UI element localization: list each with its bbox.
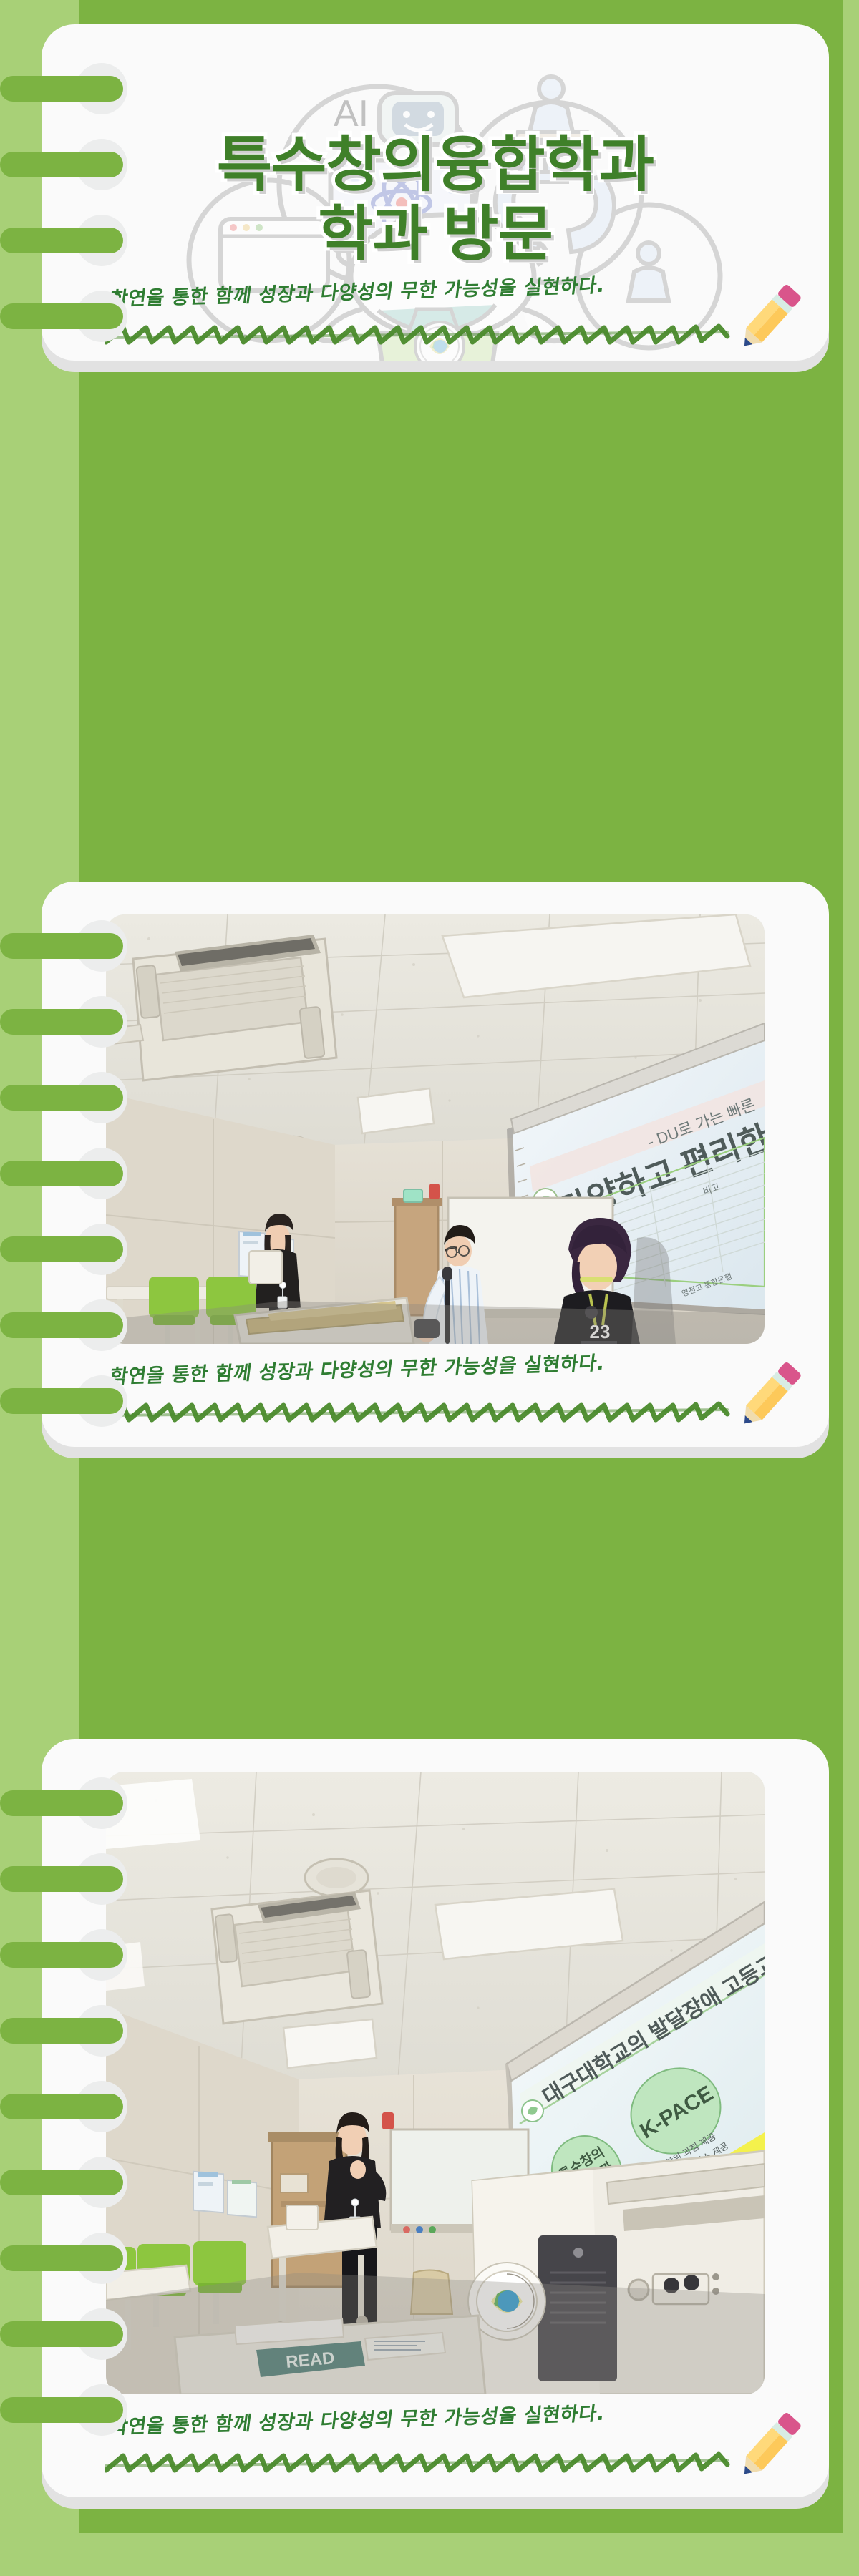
caption-handwriting-wrap: 학연을 통한 함께 성장과 다양성의 무한 가능성을 실현하다.	[110, 1361, 740, 1401]
pencil-icon	[729, 278, 809, 361]
fire-alarm	[382, 2112, 394, 2129]
window-light	[106, 1779, 200, 1849]
exit-sign	[404, 1189, 422, 1202]
caption-hero: 학연을 통한 함께 성장과 다양성의 무한 가능성을 실현하다.	[42, 276, 829, 361]
pencil-icon	[729, 2406, 809, 2489]
page-title: 특수창의융합학과 학과 방문	[42, 130, 829, 270]
caption-handwriting-wrap: 학연을 통한 함께 성장과 다양성의 무한 가능성을 실현하다.	[110, 283, 740, 323]
scribble-underline-icon	[105, 323, 740, 351]
page-right-edge-strip	[843, 0, 859, 2576]
photo-classroom-presentation: 다양하고 편리한 - DU로 가는 빠른	[106, 914, 765, 1344]
caption-photo-1: 학연을 통한 함께 성장과 다양성의 무한 가능성을 실현하다.	[42, 1354, 829, 1438]
scribble-underline-icon	[105, 2451, 740, 2479]
fire-alarm	[429, 1184, 440, 1199]
page-bottom-edge-strip	[0, 2533, 859, 2576]
pencil-icon	[729, 1355, 809, 1439]
photo-classroom-lecture: 대구대학교의 발달장애 고등교육 기관 특수창의 융합학과 K-PACE	[106, 1772, 765, 2394]
card-photo-2: 대구대학교의 발달장애 고등교육 기관 특수창의 융합학과 K-PACE	[42, 1739, 829, 2497]
ceiling-ac-unit	[212, 1890, 382, 2024]
page-title-line-1: 특수창의융합학과	[42, 130, 829, 200]
caption-text: 학연을 통한 함께 성장과 다양성의 무한 가능성을 실현하다.	[108, 1343, 744, 1389]
card-photo-2-surface: 대구대학교의 발달장애 고등교육 기관 특수창의 융합학과 K-PACE	[42, 1739, 829, 2497]
scribble-underline-icon	[105, 1401, 740, 1429]
ceiling-vent	[106, 1025, 143, 1045]
ceiling-ac-unit	[133, 935, 336, 1080]
card-photo-1: 다양하고 편리한 - DU로 가는 빠른	[42, 882, 829, 1447]
card-hero-surface: AI	[42, 24, 829, 361]
caption-photo-2: 학연을 통한 함께 성장과 다양성의 무한 가능성을 실현하다.	[42, 2404, 829, 2489]
ai-label: AI	[334, 93, 369, 135]
caption-handwriting-wrap: 학연을 통한 함께 성장과 다양성의 무한 가능성을 실현하다.	[110, 2411, 740, 2451]
card-hero: AI	[42, 24, 829, 361]
caption-text: 학연을 통한 함께 성장과 다양성의 무한 가능성을 실현하다.	[108, 2394, 744, 2439]
page-title-line-2: 학과 방문	[42, 200, 829, 269]
card-photo-1-surface: 다양하고 편리한 - DU로 가는 빠른	[42, 882, 829, 1447]
chair-green-3	[193, 2241, 246, 2285]
